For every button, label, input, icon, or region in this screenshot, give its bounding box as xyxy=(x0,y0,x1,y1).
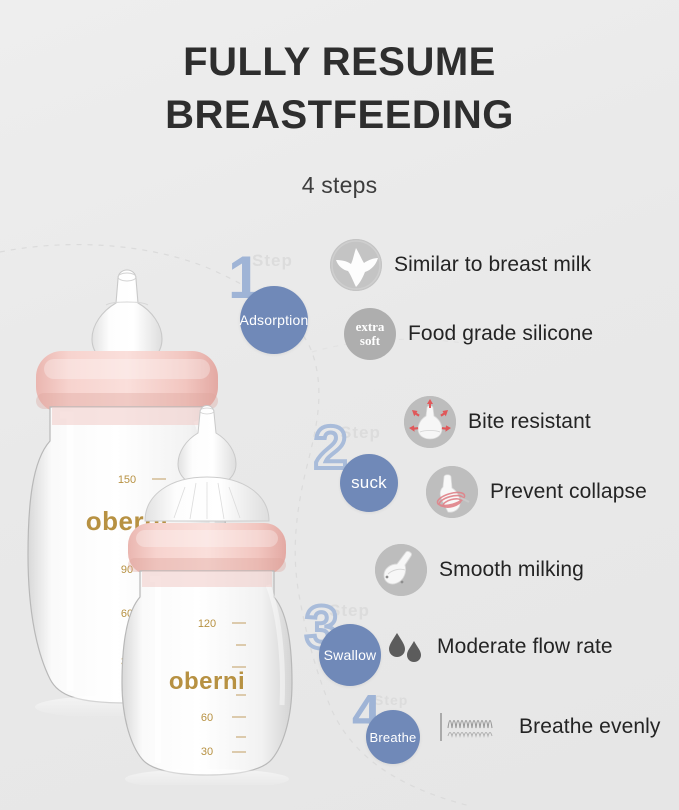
feature-prevent-collapse-label: Prevent collapse xyxy=(490,480,647,504)
svg-text:30: 30 xyxy=(201,746,213,758)
step-2-badge[interactable]: suck xyxy=(340,454,398,512)
page-subtitle: 4 steps xyxy=(0,172,679,199)
feature-smooth-milking-label: Smooth milking xyxy=(439,558,584,582)
bite-resistant-nipple-icon xyxy=(404,396,456,448)
nipple-cross-cut-icon xyxy=(330,239,382,291)
feature-breathe-evenly: Breathe evenly xyxy=(437,707,661,747)
infographic-canvas: FULLY RESUME BREASTFEEDING 4 steps xyxy=(0,0,679,810)
extra-soft-badge-icon: extra soft xyxy=(344,308,396,360)
feature-similar-to-breast-milk-label: Similar to breast milk xyxy=(394,253,591,277)
step-4-badge-label: Breathe xyxy=(370,730,417,745)
feature-similar-to-breast-milk: Similar to breast milk xyxy=(330,239,591,291)
svg-text:oberni: oberni xyxy=(169,668,245,695)
water-drops-icon xyxy=(383,627,427,667)
svg-text:150: 150 xyxy=(118,474,136,486)
feature-bite-resistant: Bite resistant xyxy=(404,396,591,448)
svg-text:120: 120 xyxy=(198,618,216,630)
feature-bite-resistant-label: Bite resistant xyxy=(468,410,591,434)
svg-text:60: 60 xyxy=(201,712,213,724)
feature-food-grade-silicone: extra soft Food grade silicone xyxy=(344,308,593,360)
step-3-badge[interactable]: Swallow xyxy=(319,624,381,686)
smooth-milking-nipple-icon xyxy=(375,544,427,596)
extra-soft-line-1: extra xyxy=(356,320,385,334)
extra-soft-line-2: soft xyxy=(360,334,380,348)
step-4-badge[interactable]: Breathe xyxy=(366,710,420,764)
breathing-waveform-icon xyxy=(437,707,509,747)
feature-moderate-flow-rate-label: Moderate flow rate xyxy=(437,635,613,659)
feature-moderate-flow-rate: Moderate flow rate xyxy=(383,627,613,667)
feature-smooth-milking: Smooth milking xyxy=(375,544,584,596)
feature-breathe-evenly-label: Breathe evenly xyxy=(519,715,661,739)
feature-prevent-collapse: Prevent collapse xyxy=(426,466,647,518)
step-3-badge-label: Swallow xyxy=(324,647,377,663)
prevent-collapse-nipple-icon xyxy=(426,466,478,518)
step-1-badge-label: Adsorption xyxy=(240,312,309,328)
page-title: FULLY RESUME BREASTFEEDING xyxy=(0,36,679,142)
step-2-badge-label: suck xyxy=(351,473,387,493)
feature-food-grade-silicone-label: Food grade silicone xyxy=(408,322,593,346)
step-1-badge[interactable]: Adsorption xyxy=(240,286,308,354)
